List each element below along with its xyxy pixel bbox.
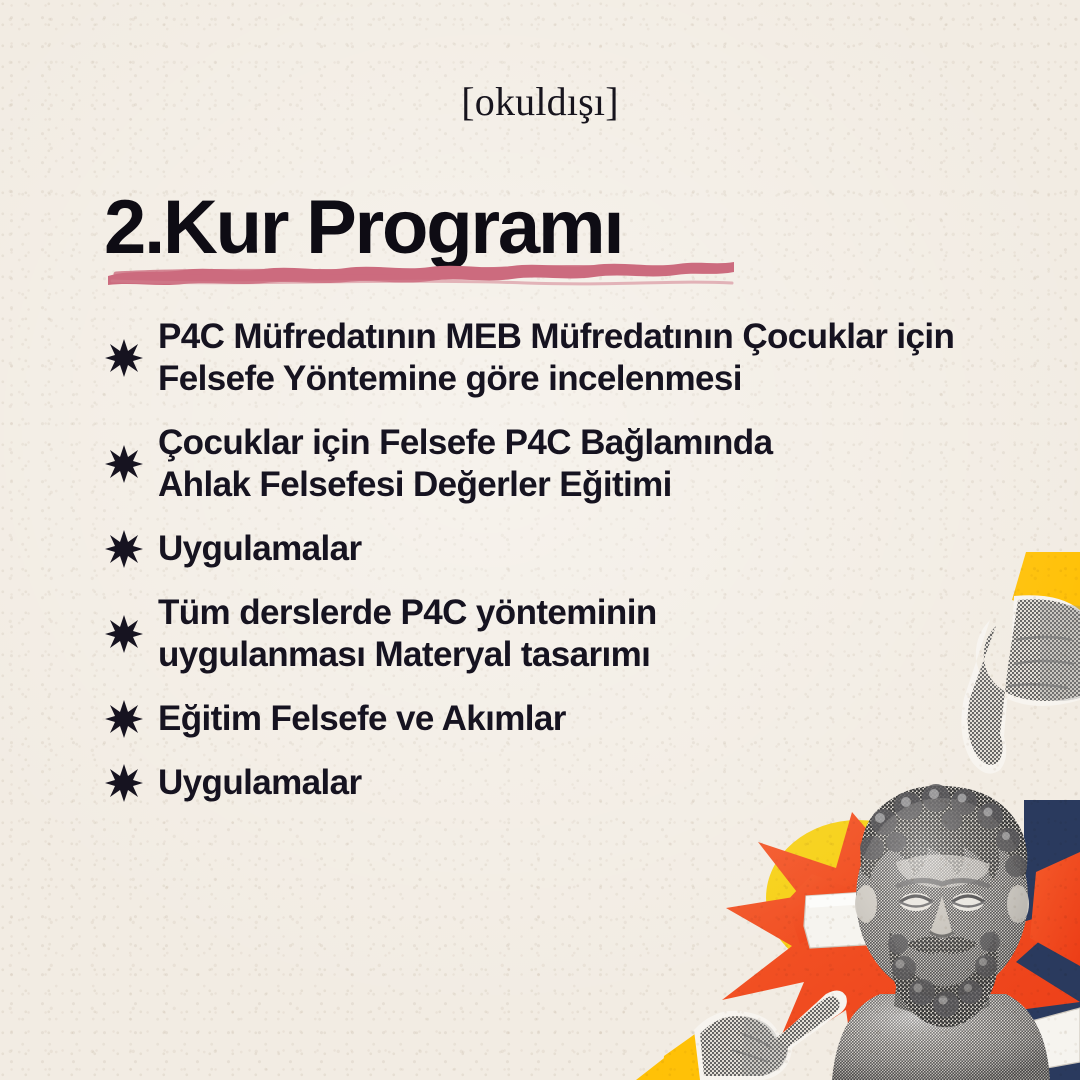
list-item: Eğitim Felsefe ve Akımlar xyxy=(104,698,1080,740)
list-item: Tüm derslerde P4C yönteminin uygulanması… xyxy=(104,592,1080,676)
eight-point-star-icon xyxy=(104,444,144,484)
brand-logo: [okuldışı] xyxy=(0,82,1080,122)
list-item-label: Uygulamalar xyxy=(158,762,362,804)
list-item-label: P4C Müfredatının MEB Müfredatının Çocukl… xyxy=(158,316,954,400)
page-title: 2.Kur Programı xyxy=(104,190,824,266)
eight-point-star-icon xyxy=(104,529,144,569)
eight-point-star-icon xyxy=(104,699,144,739)
eight-point-star-icon xyxy=(104,614,144,654)
title-underline-brush xyxy=(106,260,736,286)
list-item-label: Çocuklar için Felsefe P4C Bağlamında Ahl… xyxy=(158,422,772,506)
list-item-label: Tüm derslerde P4C yönteminin uygulanması… xyxy=(158,592,657,676)
list-item: Uygulamalar xyxy=(104,762,1080,804)
list-item: Uygulamalar xyxy=(104,528,1080,570)
program-list: P4C Müfredatının MEB Müfredatının Çocukl… xyxy=(104,316,1080,826)
eight-point-star-icon xyxy=(104,338,144,378)
list-item: Çocuklar için Felsefe P4C Bağlamında Ahl… xyxy=(104,422,1080,506)
poster-canvas: [okuldışı] 2.Kur Programı P4C Müfredatın… xyxy=(0,0,1080,1080)
headline-block: 2.Kur Programı xyxy=(104,190,824,266)
list-item-label: Eğitim Felsefe ve Akımlar xyxy=(158,698,566,740)
list-item-label: Uygulamalar xyxy=(158,528,362,570)
eight-point-star-icon xyxy=(104,763,144,803)
list-item: P4C Müfredatının MEB Müfredatının Çocukl… xyxy=(104,316,1080,400)
poster-content: [okuldışı] 2.Kur Programı P4C Müfredatın… xyxy=(0,0,1080,1080)
